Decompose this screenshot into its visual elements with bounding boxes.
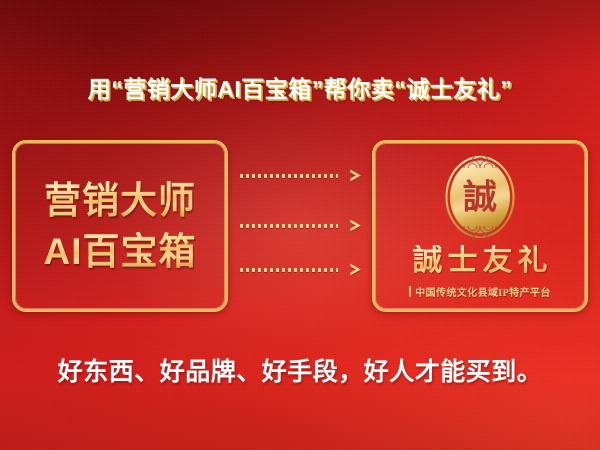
brand-seal-icon: 誠 — [444, 155, 516, 239]
connector-arrows — [236, 140, 366, 306]
dotted-arrow-icon-3 — [240, 263, 362, 276]
product-name-line-2: AI百宝箱 — [44, 229, 197, 274]
arrow-dots — [240, 174, 338, 178]
right-gold-box: 誠 誠士友礼 中国传统文化县域IP特产平台 — [372, 140, 588, 312]
arrow-dots — [240, 268, 338, 272]
arrow-head-icon — [349, 219, 362, 232]
poster-canvas: 用“营销大师AI百宝箱”帮你卖“诚士友礼” 营销大师 AI百宝箱 — [0, 0, 600, 450]
arrow-head-icon — [349, 263, 362, 276]
arrow-head-icon — [349, 169, 362, 182]
headline-text: 用“营销大师AI百宝箱”帮你卖“诚士友礼” — [0, 70, 600, 104]
left-box-content: 营销大师 AI百宝箱 — [15, 143, 225, 309]
brand-name-text: 誠士友礼 — [408, 245, 553, 277]
seal-character-glyph: 誠 — [463, 179, 497, 217]
product-name-line-1: 营销大师 — [44, 178, 196, 223]
tagline-divider-bar — [409, 286, 411, 297]
dotted-arrow-icon-1 — [240, 169, 362, 182]
brand-tagline-text: 中国传统文化县域IP特产平台 — [415, 284, 551, 299]
slogan-text: 好东西、好品牌、好手段，好人才能买到。 — [0, 352, 600, 388]
left-gold-box: 营销大师 AI百宝箱 — [12, 140, 228, 312]
dotted-arrow-icon-2 — [240, 219, 362, 232]
arrow-dots — [240, 224, 338, 228]
brand-logo-block: 誠 誠士友礼 中国传统文化县域IP特产平台 — [375, 143, 585, 309]
brand-tagline-row: 中国传统文化县域IP特产平台 — [409, 284, 551, 299]
